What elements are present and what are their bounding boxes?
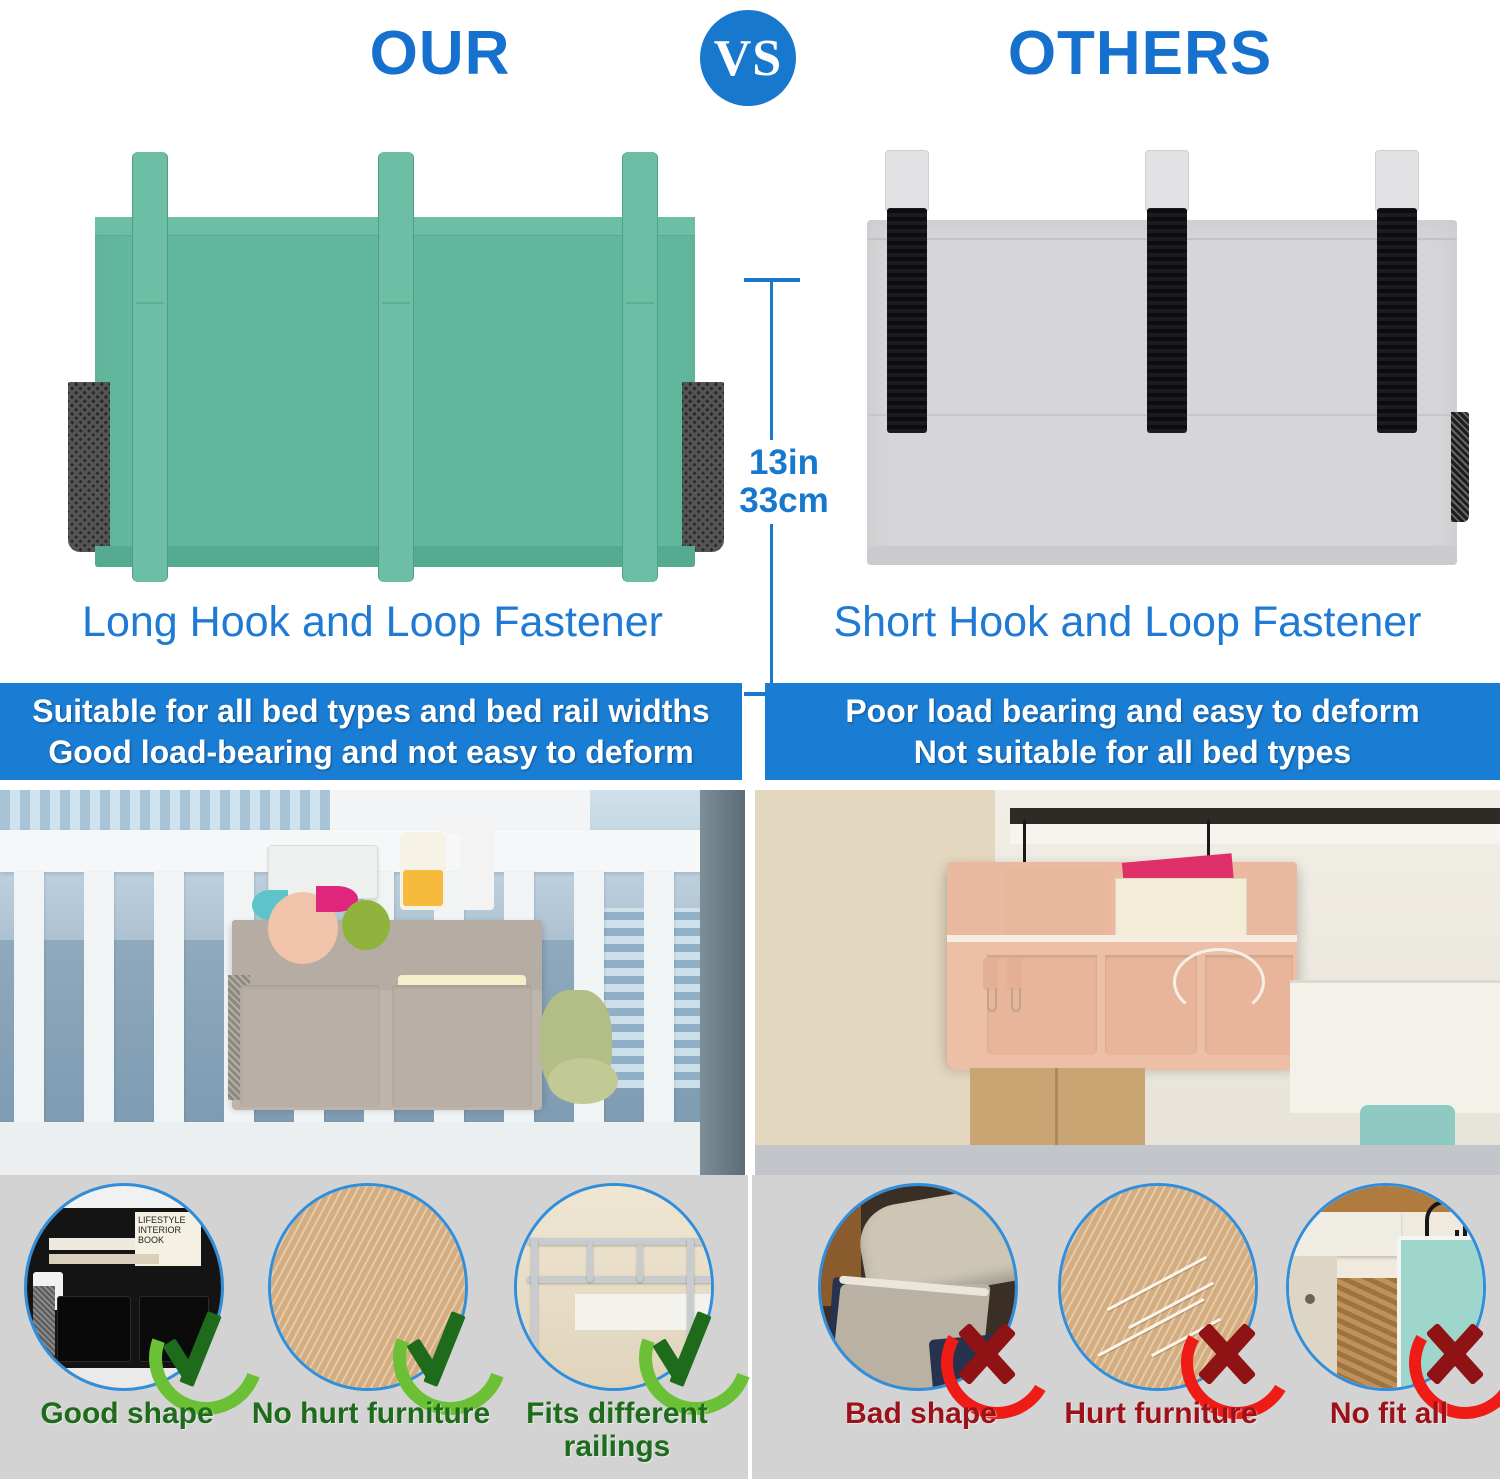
short-strap-3-velcro [1377,208,1417,433]
check-glyph [143,1295,253,1405]
green-rattle-toy [342,900,390,950]
left-subtitle: Long Hook and Loop Fastener [0,598,745,647]
gray-organizer-bottom-band [867,546,1457,565]
white-shelf [1289,1212,1401,1256]
check-mark-icon [633,1295,743,1405]
rail-spindle-1 [587,1242,593,1282]
badge-caption: No hurt furniture [248,1397,494,1430]
white-cable [1173,948,1265,1016]
product-hero-row: 13in 33cm [0,122,1500,592]
right-badge-strip: Bad shape Hurt furniture [752,1175,1500,1479]
right-feature-banner: Poor load bearing and easy to deform Not… [765,683,1500,780]
dimension-centimeters: 33cm [724,482,844,520]
wicker-basket [1337,1278,1403,1391]
long-strap-2 [378,152,414,582]
badge-no-fit-all: No fit all [1280,1183,1498,1473]
left-banner-line-1: Suitable for all bed types and bed rail … [32,691,709,732]
crib-slat [14,872,44,1122]
crib-base [0,1122,745,1175]
short-strap-3 [1375,150,1419,435]
check-mark-icon [387,1295,497,1405]
x-glyph [1177,1295,1287,1405]
dimension-inches: 13in [724,444,844,482]
gray-mesh-pocket-icon [1451,412,1469,522]
x-glyph [1405,1295,1500,1405]
badge-caption: Bad shape [798,1397,1044,1430]
vs-badge-icon: VS [700,10,796,106]
x-mark-icon [937,1295,1047,1405]
comparison-infographic: OUR VS OTHERS 13in 33cm [0,0,1500,1479]
stacked-papers-2 [49,1254,159,1264]
headboard-dark-trim [1010,808,1500,824]
short-strap-2-velcro [1147,208,1187,433]
crib-slat [644,872,674,1122]
badge-caption: No fit all [1266,1397,1500,1430]
front-pocket-1 [57,1296,131,1362]
left-lifestyle-photo [0,790,745,1175]
short-strap-1-velcro [887,208,927,433]
hook-loop-1 [983,958,997,990]
pink-organizer-hook-loops [983,958,1029,1016]
dimension-label: 13in 33cm [724,440,844,524]
right-banner-line-2: Not suitable for all bed types [914,732,1351,773]
x-mark-icon [1405,1295,1500,1405]
rail-post-left [531,1238,538,1354]
check-glyph [387,1295,497,1405]
header: OUR VS OTHERS [0,0,1500,122]
white-dresser [1290,980,1500,1113]
cream-book [1115,878,1247,938]
scene-wall [27,1186,224,1208]
side-mesh-pocket-icon [33,1286,55,1356]
check-glyph [633,1295,743,1405]
mesh-pocket-left-icon [68,382,110,552]
short-strap-3-loop [1375,150,1419,212]
short-strap-1 [885,150,929,435]
pink-organizer-inner-divider [1005,870,1105,940]
badge-caption: Fits different railings [494,1397,740,1463]
long-strap-1 [132,152,168,582]
left-feature-banner: Suitable for all bed types and bed rail … [0,683,742,780]
short-strap-2-loop [1145,150,1189,212]
taupe-organizer-pocket-2 [392,985,532,1107]
screw-hole [1305,1294,1315,1304]
badge-good-shape: LIFESTYLE INTERIOR BOOK Good shape [18,1183,236,1473]
our-product-image [60,142,730,582]
others-product-image [855,142,1475,582]
x-glyph [937,1295,1047,1405]
left-banner-line-2: Good load-bearing and not easy to deform [48,732,693,773]
header-others-label: OTHERS [890,18,1390,89]
left-badge-strip: LIFESTYLE INTERIOR BOOK Good shape [0,1175,748,1479]
badge-fits-different-railings: Fits different railings [508,1183,726,1473]
headboard-white-trim [1010,824,1500,844]
rail-bar-mid [527,1276,713,1283]
baby-bottle [400,832,446,910]
hook-loop-2 [1007,958,1021,990]
taupe-organizer-pocket-1 [240,985,380,1107]
badge-hurt-furniture: Hurt furniture [1052,1183,1270,1473]
crib-slat [154,872,184,1122]
dimension-cap-top [744,278,800,282]
badge-bad-shape: Bad shape [812,1183,1030,1473]
crib-slat [84,872,114,1122]
short-strap-1-loop [885,150,929,212]
long-strap-3 [622,152,658,582]
crib-side-panel [700,790,745,1175]
right-banner-line-1: Poor load bearing and easy to deform [845,691,1419,732]
mesh-pocket-right-icon [682,382,724,552]
right-lifestyle-photo [755,790,1500,1175]
rail-spindle-2 [637,1242,643,1282]
check-mark-icon [143,1295,253,1405]
floor-strip [755,1145,1500,1175]
x-mark-icon [1177,1295,1287,1405]
rail-bar-top [527,1238,713,1245]
header-our-label: OUR [250,18,630,89]
dinosaur-plush-body [548,1058,618,1104]
badge-caption: Good shape [4,1397,250,1430]
shelf-leg [1289,1256,1337,1391]
badge-caption: Hurt furniture [1038,1397,1284,1430]
lotion-pump-bottle [460,830,494,910]
short-strap-2 [1145,150,1189,435]
right-subtitle: Short Hook and Loop Fastener [755,598,1500,647]
badge-no-hurt-furniture: No hurt furniture [262,1183,480,1473]
